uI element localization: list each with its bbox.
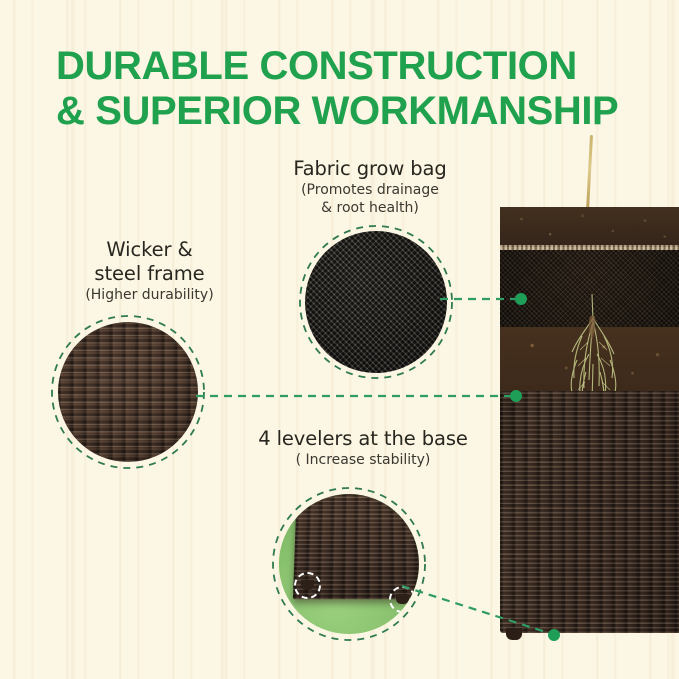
callout-wicker-text: Wicker & steel frame (Higher durability) [42, 238, 257, 304]
infographic-canvas: DURABLE CONSTRUCTION & SUPERIOR WORKMANS… [0, 0, 679, 679]
page-title-line-2: & SUPERIOR WORKMANSHIP [56, 89, 656, 134]
seedling-stem [586, 135, 593, 211]
planter-wicker-body [500, 391, 679, 633]
callout-wicker-swatch [58, 322, 198, 462]
page-title-line-1: DURABLE CONSTRUCTION [56, 44, 577, 88]
connector-dot-fabric [515, 293, 527, 305]
callout-wicker-subtitle: (Higher durability) [42, 287, 257, 304]
leveler-highlight-left [294, 572, 321, 599]
callout-fabric-subtitle-line-1: (Promotes drainage [255, 182, 485, 199]
callout-fabric-title: Fabric grow bag [255, 157, 485, 181]
callout-wicker-title-line-2: steel frame [42, 262, 257, 286]
callout-fabric-subtitle-line-2: & root health) [255, 200, 485, 217]
callout-levelers-text: 4 levelers at the base ( Increase stabil… [222, 427, 504, 469]
callout-levelers-swatch [279, 494, 419, 634]
callout-levelers-subtitle: ( Increase stability) [222, 452, 504, 469]
connector-dot-levelers [548, 629, 560, 641]
callout-fabric-text: Fabric grow bag (Promotes drainage & roo… [255, 157, 485, 217]
leveler-highlight-right [389, 586, 416, 613]
callout-levelers-title: 4 levelers at the base [222, 427, 504, 451]
soil-surface [500, 207, 679, 247]
lower-soil-layer [500, 327, 679, 393]
planter-leveler-foot [506, 628, 522, 640]
callout-fabric-swatch [305, 231, 447, 373]
grow-bag-panel [500, 250, 679, 393]
callout-wicker-title-line-1: Wicker & [42, 238, 257, 262]
page-title: DURABLE CONSTRUCTION & SUPERIOR WORKMANS… [56, 44, 656, 134]
connector-dot-wicker [510, 390, 522, 402]
